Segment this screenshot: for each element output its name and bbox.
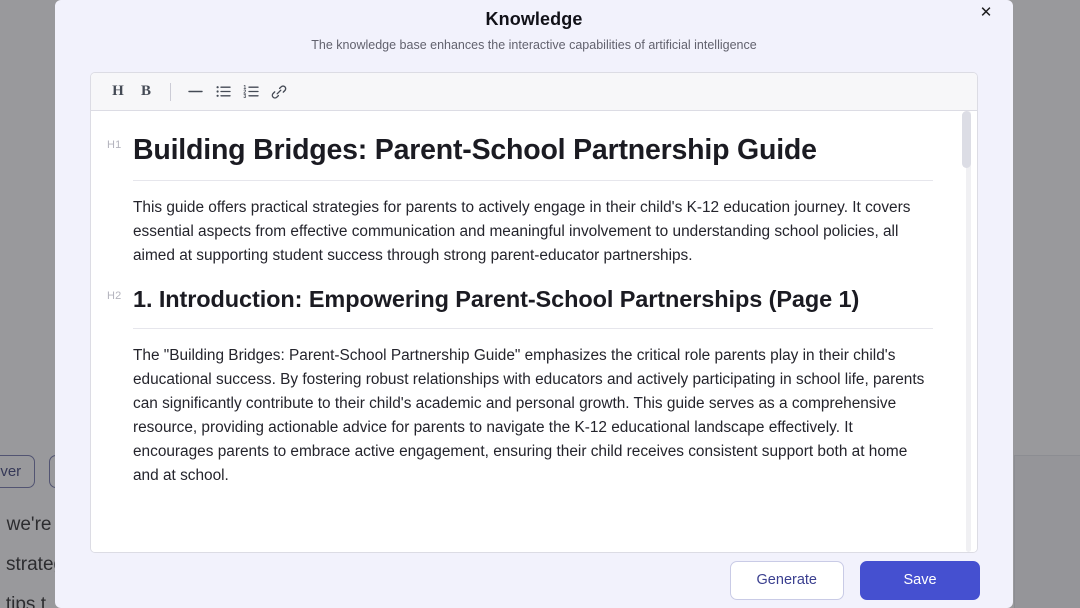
horizontal-rule-icon[interactable] [182, 79, 208, 105]
link-icon[interactable] [266, 79, 292, 105]
document-block-heading2[interactable]: H2 1. Introduction: Empowering Parent-Sc… [133, 284, 933, 328]
block-type-tag: H1 [107, 139, 121, 151]
block-spacer [133, 268, 933, 284]
heading-icon[interactable]: H [105, 79, 131, 105]
document-content: H1 Building Bridges: Parent-School Partn… [91, 111, 977, 488]
document-block-heading1[interactable]: H1 Building Bridges: Parent-School Partn… [133, 133, 933, 181]
modal-subtitle: The knowledge base enhances the interact… [55, 30, 1013, 52]
document-paragraph[interactable]: This guide offers practical strategies f… [133, 196, 933, 268]
toolbar-divider [170, 83, 171, 101]
save-button[interactable]: Save [860, 561, 980, 600]
knowledge-modal: ✕ Knowledge The knowledge base enhances … [55, 0, 1013, 608]
block-type-tag: H2 [107, 290, 121, 302]
rich-text-editor: H B [90, 72, 978, 553]
heading-underline [133, 180, 933, 181]
editor-scrollbar-thumb[interactable] [962, 111, 971, 168]
editor-scrollbar-track[interactable] [966, 111, 971, 552]
bullet-list-icon[interactable] [210, 79, 236, 105]
ordered-list-icon[interactable]: 1 2 3 [238, 79, 264, 105]
svg-text:3: 3 [243, 94, 246, 100]
heading-underline [133, 328, 933, 329]
document-paragraph[interactable]: The "Building Bridges: Parent-School Par… [133, 344, 933, 488]
editor-content-area[interactable]: H1 Building Bridges: Parent-School Partn… [91, 111, 977, 552]
heading-1-text: Building Bridges: Parent-School Partners… [133, 133, 933, 168]
modal-footer: Generate Save [55, 552, 1013, 608]
modal-title: Knowledge [55, 0, 1013, 30]
generate-button[interactable]: Generate [730, 561, 844, 600]
close-icon[interactable]: ✕ [976, 2, 996, 22]
heading-2-text: 1. Introduction: Empowering Parent-Schoo… [133, 284, 933, 315]
editor-toolbar: H B [91, 73, 977, 111]
page-root: over y, we're strateg n tips t out givin… [0, 0, 1080, 608]
bold-icon[interactable]: B [133, 79, 159, 105]
